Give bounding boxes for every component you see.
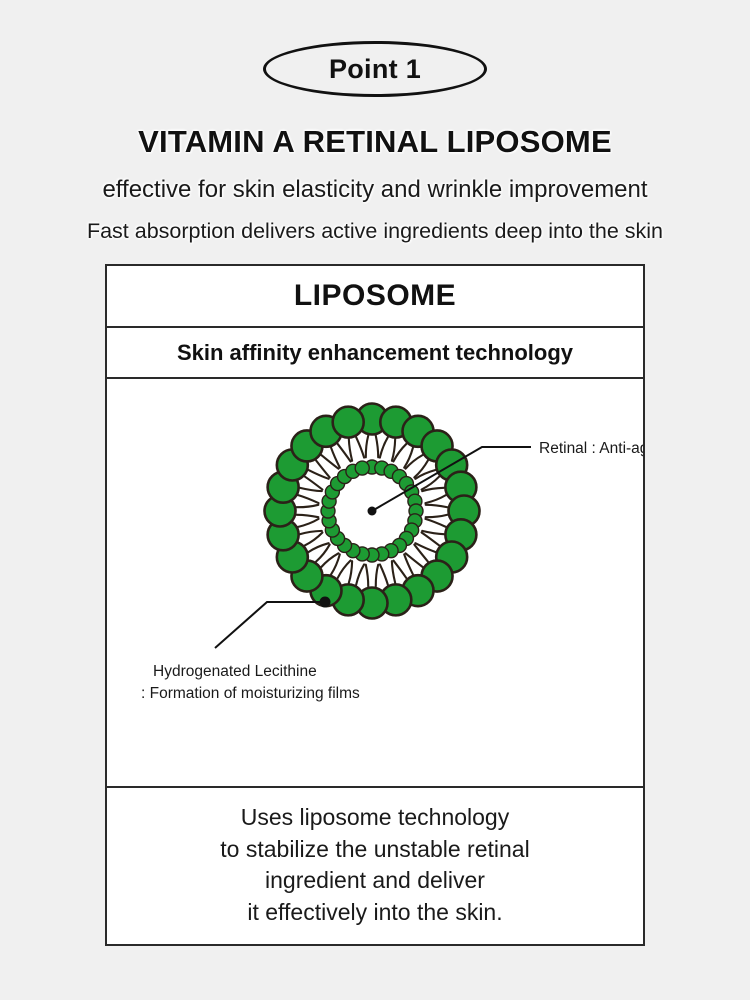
retinal-annotation-label: Retinal : Anti-aging <box>539 440 643 457</box>
diagram-row: Retinal : Anti-aging Hydrogenated Lecith… <box>107 379 643 788</box>
lecithine-annotation: Hydrogenated Lecithine : Formation of mo… <box>141 597 360 703</box>
footer-line-3: ingredient and deliver <box>220 865 529 897</box>
card-footer-text: Uses liposome technology to stabilize th… <box>220 802 529 928</box>
lecithine-annotation-label-2: : Formation of moisturizing films <box>141 685 360 702</box>
card-title: LIPOSOME <box>294 279 456 313</box>
footer-line-1: Uses liposome technology <box>220 802 529 834</box>
liposome-card: LIPOSOME Skin affinity enhancement techn… <box>105 264 645 946</box>
point-badge-ellipse: Point 1 <box>263 41 487 97</box>
card-title-row: LIPOSOME <box>107 266 643 328</box>
lecithine-annotation-label-1: Hydrogenated Lecithine <box>153 663 317 680</box>
page-title: VITAMIN A RETINAL LIPOSOME <box>0 124 750 160</box>
card-footer-row: Uses liposome technology to stabilize th… <box>107 788 643 942</box>
card-subtitle-row: Skin affinity enhancement technology <box>107 328 643 379</box>
point-badge-label: Point 1 <box>329 56 421 83</box>
liposome-bilayer-diagram: Retinal : Anti-aging Hydrogenated Lecith… <box>107 379 643 784</box>
footer-line-2: to stabilize the unstable retinal <box>220 834 529 866</box>
point-badge-container: Point 1 <box>0 38 750 100</box>
subtitle-line-1: effective for skin elasticity and wrinkl… <box>0 176 750 204</box>
card-subtitle: Skin affinity enhancement technology <box>177 340 573 366</box>
footer-line-4: it effectively into the skin. <box>220 897 529 929</box>
subtitle-line-2: Fast absorption delivers active ingredie… <box>0 219 750 244</box>
